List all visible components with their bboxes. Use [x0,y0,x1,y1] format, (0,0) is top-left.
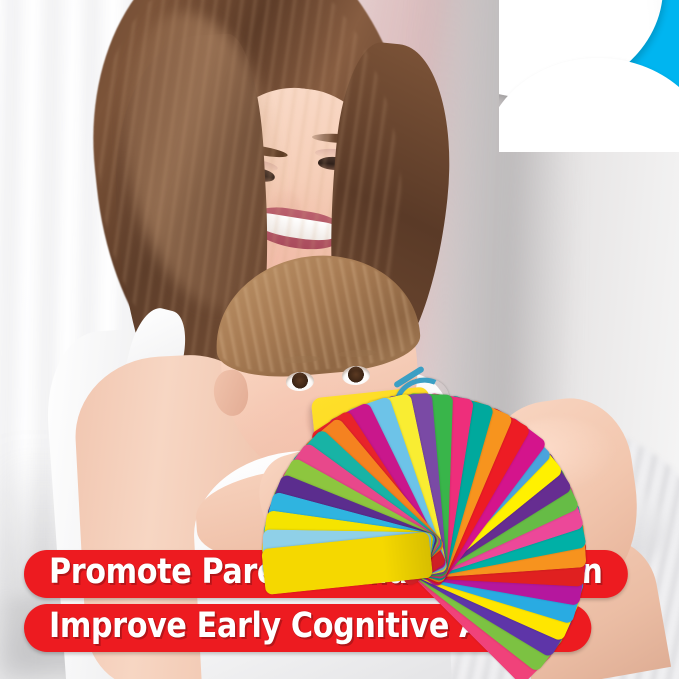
product-image-canvas: Promote Parent-Child Interaction Improve… [0,0,679,679]
